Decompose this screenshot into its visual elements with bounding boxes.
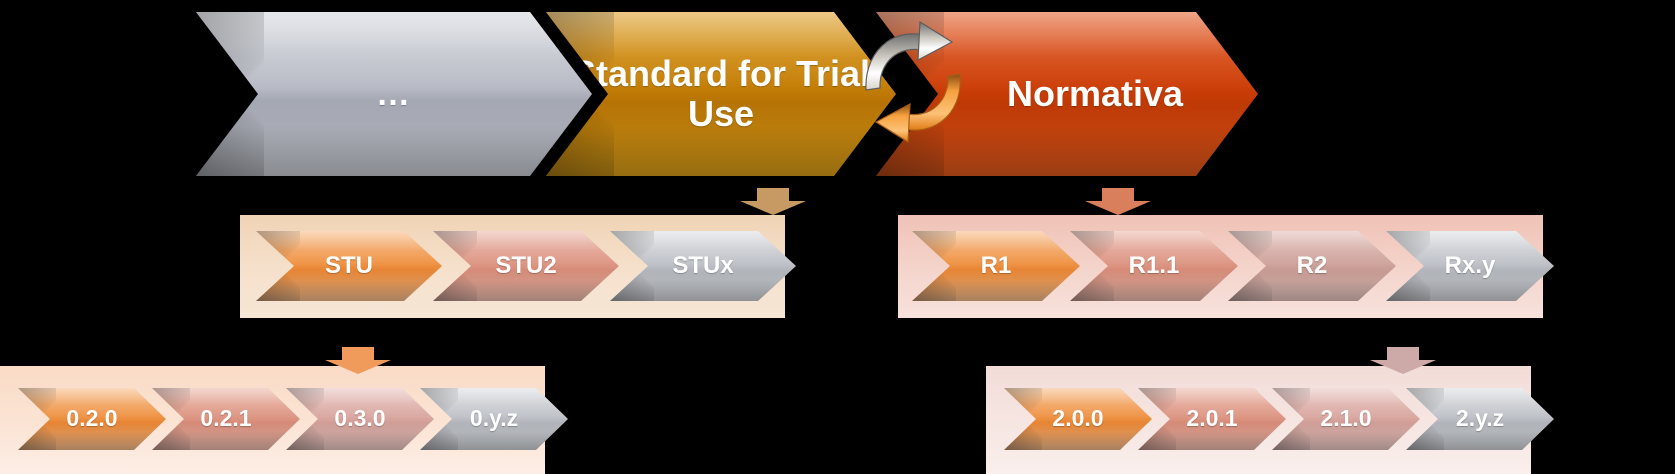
phase-chevron-standard-for-trial-use[interactable]: Standard for Trial Use [546,12,896,176]
bevel-highlight [256,231,442,266]
release-chevron-r2[interactable]: R2 [1228,231,1396,301]
phase-label-normativa: Normativa [951,74,1183,114]
release-label: STU [325,253,373,280]
bevel-shadow [1272,419,1420,450]
bevel-shadow [912,266,1080,301]
release-label: Rx.y [1445,253,1496,280]
arrow-head [740,201,806,215]
version-label: 0.2.0 [66,406,117,432]
release-chevron-stu[interactable]: STU [256,231,442,301]
version-label: 0.y.z [470,406,518,432]
normative-release-band: R1 R1.1 R2 Rx.y [898,215,1543,318]
bevel-highlight [912,231,1080,266]
version-label: 0.3.0 [334,406,385,432]
bevel-shadow [1070,266,1238,301]
phase-chevron-ellipsis[interactable]: … [196,12,592,176]
bevel-highlight [152,388,300,419]
version-chevron-0-2-0[interactable]: 0.2.0 [18,388,166,450]
bevel-highlight [420,388,568,419]
release-chevron-r1-1[interactable]: R1.1 [1070,231,1238,301]
version-label: 2.0.1 [1186,406,1237,432]
bevel-shadow [286,419,434,450]
version-chevron-0-2-1[interactable]: 0.2.1 [152,388,300,450]
bevel-highlight [546,12,896,94]
bevel-notch [18,388,56,450]
bevel-shadow [546,94,896,176]
version-chevron-2-0-0[interactable]: 2.0.0 [1004,388,1152,450]
release-label: R2 [1297,253,1328,280]
version-chevron-2-1-0[interactable]: 2.1.0 [1272,388,1420,450]
bevel-shadow [1386,266,1554,301]
bevel-highlight [1406,388,1554,419]
bevel-notch [256,231,300,301]
release-chevron-r1[interactable]: R1 [912,231,1080,301]
phase-label-stu: Standard for Trial Use [546,54,896,135]
arrow-head [1085,201,1151,215]
bevel-shadow [1406,419,1554,450]
release-label: R1.1 [1129,253,1180,280]
bevel-highlight [433,231,619,266]
release-chevron-rx-y[interactable]: Rx.y [1386,231,1554,301]
arrow-r-band-to-normative-versions [1370,347,1436,374]
bevel-highlight [1004,388,1152,419]
bevel-shadow [1228,266,1396,301]
bevel-shadow [610,266,796,301]
bevel-highlight [1272,388,1420,419]
phase-label-ellipsis: … [376,75,412,113]
arrow-stu-band-to-stu-versions [325,347,391,374]
arrow-head [325,360,391,374]
normative-version-band: 2.0.0 2.0.1 2.1.0 2.y.z [986,366,1531,474]
release-chevron-stu2[interactable]: STU2 [433,231,619,301]
bevel-highlight [1386,231,1554,266]
stu-release-band: STU STU2 STUx [240,215,785,318]
version-chevron-2-0-1[interactable]: 2.0.1 [1138,388,1286,450]
arrow-stu-phase-to-stu-band [740,188,806,215]
release-label: STUx [672,253,733,280]
bevel-shadow [18,419,166,450]
bevel-highlight [1228,231,1396,266]
version-chevron-0-y-z[interactable]: 0.y.z [420,388,568,450]
bevel-highlight [286,388,434,419]
bevel-shadow [433,266,619,301]
arrow-normativa-phase-to-r-band [1085,188,1151,215]
bevel-notch [912,231,956,301]
release-chevron-stux[interactable]: STUx [610,231,796,301]
bevel-shadow [152,419,300,450]
bevel-shadow [196,94,592,176]
bevel-shadow [256,266,442,301]
bevel-notch [196,12,264,176]
phase-chevron-normativa[interactable]: Normativa [876,12,1258,176]
bevel-highlight [610,231,796,266]
arrow-shaft [342,347,374,361]
bevel-highlight [1138,388,1286,419]
stu-version-band: 0.2.0 0.2.1 0.3.0 0.y.z [0,366,545,474]
release-label: R1 [981,253,1012,280]
bevel-highlight [1070,231,1238,266]
release-label: STU2 [495,253,556,280]
version-chevron-0-3-0[interactable]: 0.3.0 [286,388,434,450]
arrow-shaft [1102,188,1134,202]
bevel-highlight [18,388,166,419]
diagram-canvas: … Standard for Trial Use Normativa [0,0,1675,474]
version-chevron-2-y-z[interactable]: 2.y.z [1406,388,1554,450]
version-label: 2.0.0 [1052,406,1103,432]
version-label: 2.1.0 [1320,406,1371,432]
version-label: 0.2.1 [200,406,251,432]
bevel-highlight [876,12,1258,94]
bevel-shadow [1004,419,1152,450]
bevel-notch [1004,388,1042,450]
bevel-shadow [420,419,568,450]
arrow-head [1370,360,1436,374]
version-label: 2.y.z [1456,406,1504,432]
bevel-highlight [196,12,592,94]
bevel-shadow [1138,419,1286,450]
arrow-shaft [757,188,789,202]
bevel-shadow [876,94,1258,176]
arrow-shaft [1387,347,1419,361]
